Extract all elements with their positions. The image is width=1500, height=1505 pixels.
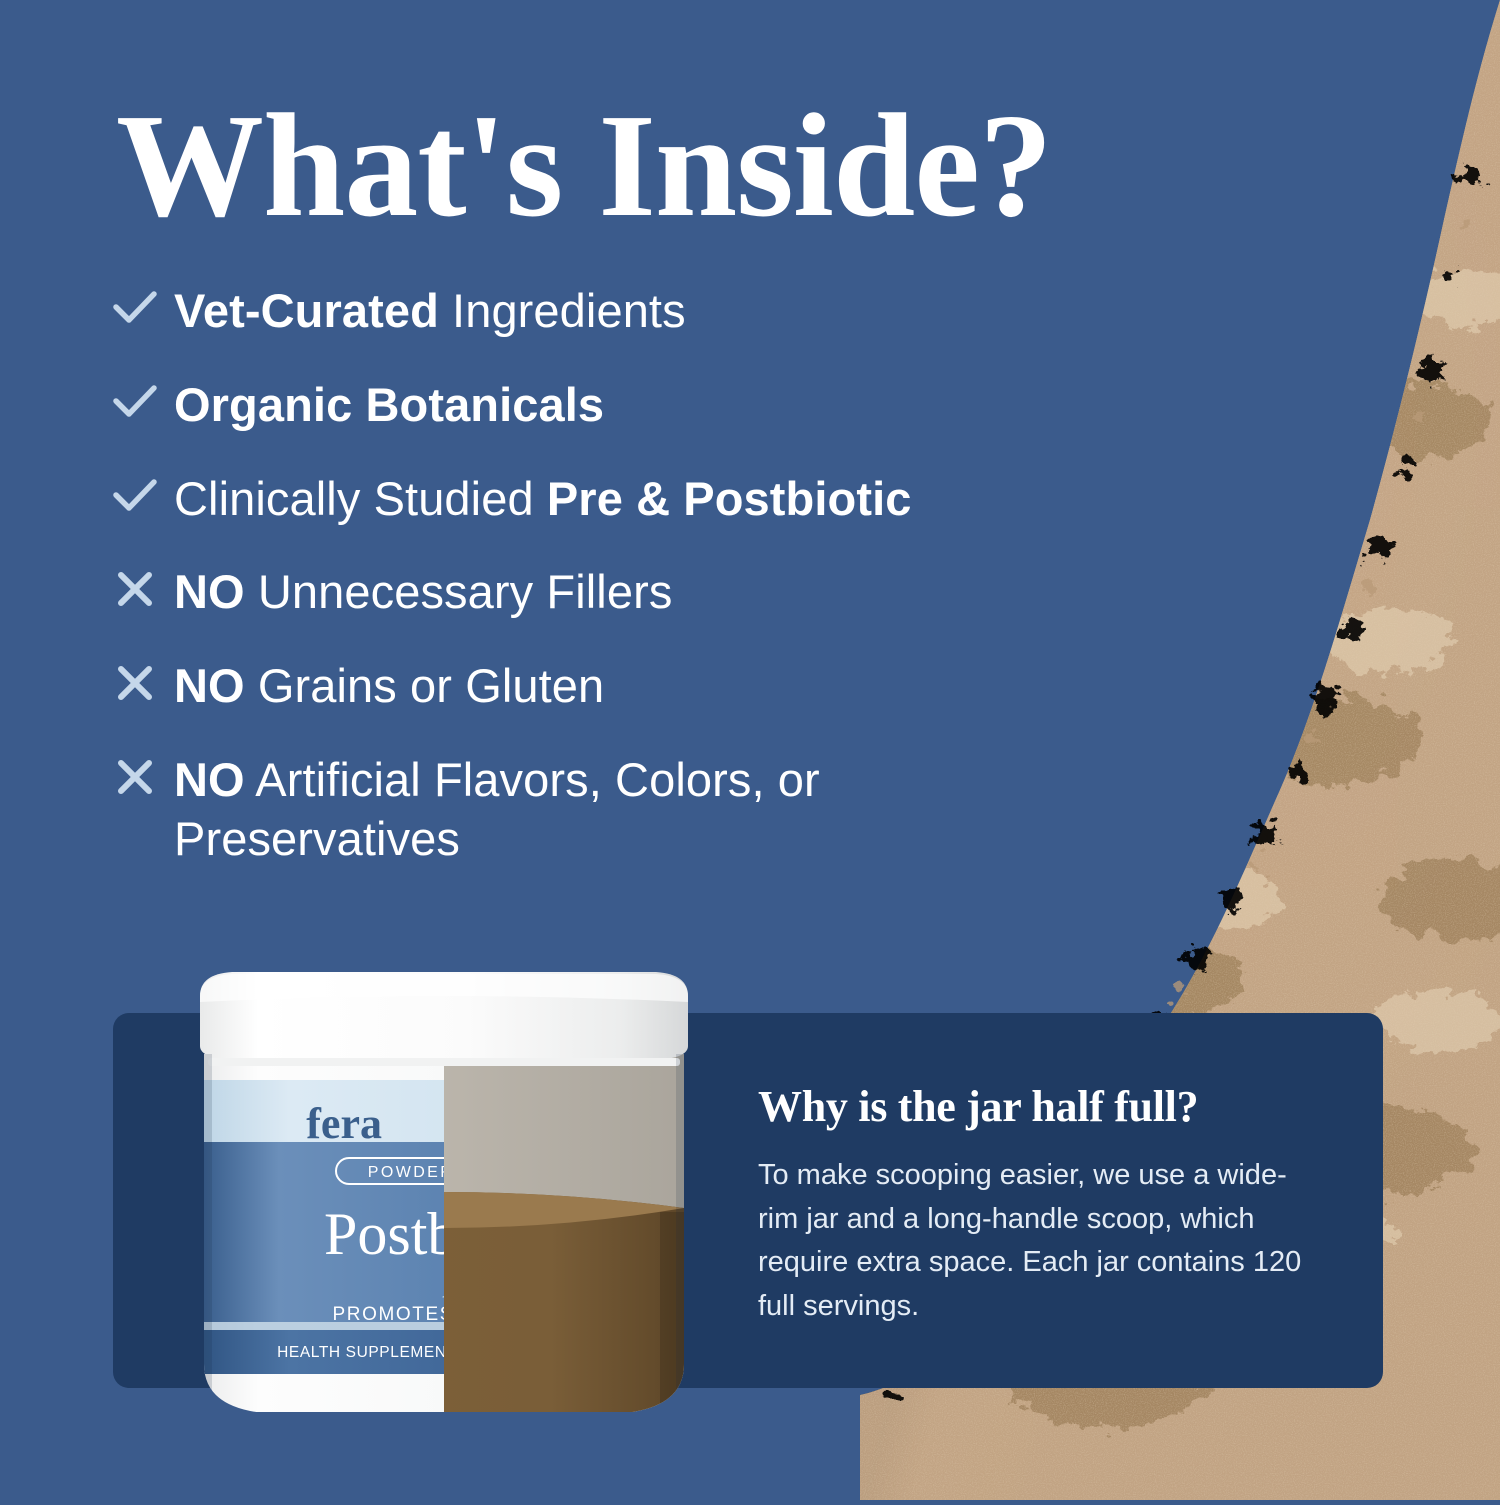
page-title: What's Inside? (116, 92, 1052, 240)
benefit-label: NO Artificial Flavors, Colors, or Preser… (174, 749, 974, 869)
x-icon (112, 655, 174, 703)
benefit-item: Organic Botanicals (112, 374, 1132, 435)
benefit-label: NO Grains or Gluten (174, 655, 604, 716)
benefit-regular: Grains or Gluten (245, 659, 605, 712)
jar-lid (200, 972, 688, 1066)
benefit-regular: Ingredients (439, 284, 686, 337)
benefit-bold: Organic Botanicals (174, 378, 604, 431)
x-icon (112, 561, 174, 609)
benefit-bold: Vet-Curated (174, 284, 439, 337)
check-icon (112, 374, 174, 422)
svg-text:POWDER: POWDER (368, 1164, 454, 1181)
benefit-regular: Unnecessary Fillers (245, 565, 673, 618)
benefit-item: NO Grains or Gluten (112, 655, 1132, 716)
x-icon (112, 749, 174, 797)
benefit-label: Clinically Studied Pre & Postbiotic (174, 468, 911, 529)
check-icon (112, 468, 174, 516)
card-text-block: Why is the jar half full? To make scoopi… (758, 1081, 1318, 1328)
check-icon (112, 280, 174, 328)
benefit-label: Vet-Curated Ingredients (174, 280, 686, 341)
benefit-regular: Artificial Flavors, Colors, or Preservat… (174, 753, 820, 865)
benefit-bold: NO (174, 753, 245, 806)
benefit-bold: Pre & Postbiotic (547, 472, 912, 525)
benefit-bold: NO (174, 565, 245, 618)
card-heading: Why is the jar half full? (758, 1081, 1318, 1132)
benefit-bold: NO (174, 659, 245, 712)
benefit-regular: Clinically Studied (174, 472, 547, 525)
benefit-item: Vet-Curated Ingredients (112, 280, 1132, 341)
benefit-item: NO Artificial Flavors, Colors, or Preser… (112, 749, 1132, 869)
benefit-list: Vet-Curated Ingredients Organic Botanica… (112, 280, 1132, 901)
card-body: To make scooping easier, we use a wide-r… (758, 1154, 1318, 1328)
product-jar-image: fera POWDER Postbiotic plus PROMOTES OPT… (186, 962, 702, 1422)
benefit-item: NO Unnecessary Fillers (112, 561, 1132, 622)
benefit-label: NO Unnecessary Fillers (174, 561, 672, 622)
benefit-label: Organic Botanicals (174, 374, 604, 435)
benefit-item: Clinically Studied Pre & Postbiotic (112, 468, 1132, 529)
jar-brand-text: fera (306, 1099, 382, 1148)
